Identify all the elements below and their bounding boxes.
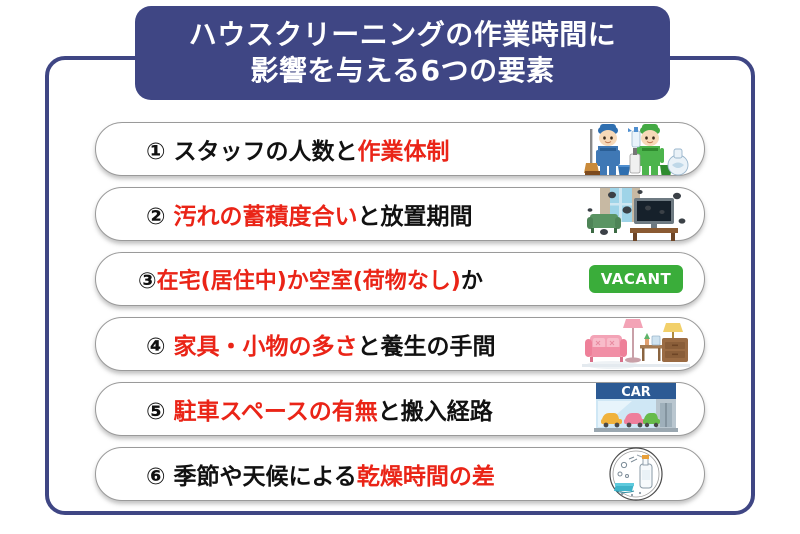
- spray-bottle-circle-icon: [580, 445, 692, 503]
- row-number: ①: [146, 139, 165, 165]
- cleaning-staff-icon: [580, 120, 692, 178]
- parking-garage-icon: CAR: [580, 380, 692, 438]
- row-text-segment: [165, 334, 173, 360]
- row-6-text: ⑥ 季節や天候による乾燥時間の差: [146, 457, 495, 491]
- row-number: ③: [138, 269, 157, 294]
- infographic-canvas: ハウスクリーニングの作業時間に 影響を与える6つの要素 ① スタッフの人数と作業…: [0, 0, 800, 534]
- svg-text:CAR: CAR: [621, 385, 651, 400]
- row-text-segment: 駐車スペースの有無: [174, 399, 378, 425]
- list-item[interactable]: ⑤ 駐車スペースの有無と搬入経路 CAR: [95, 382, 705, 436]
- row-text-segment: 家具・小物の多さ: [174, 334, 358, 360]
- vacant-badge-icon: VACANT: [580, 250, 692, 308]
- list-item[interactable]: ① スタッフの人数と作業体制: [95, 122, 705, 176]
- row-3-text: ③在宅(居住中)か空室(荷物なし)か: [138, 263, 483, 295]
- row-1-text: ① スタッフの人数と作業体制: [146, 132, 450, 166]
- row-text-segment: 乾燥時間の差: [357, 464, 495, 490]
- row-text-segment: 季節や天候による: [165, 464, 356, 490]
- row-text-segment: か: [461, 269, 483, 294]
- row-text-segment: [165, 399, 173, 425]
- row-number: ②: [146, 204, 165, 230]
- row-2-text: ② 汚れの蓄積度合いと放置期間: [146, 197, 473, 231]
- list-item[interactable]: ③在宅(居住中)か空室(荷物なし)か VACANT: [95, 252, 705, 306]
- list-item[interactable]: ② 汚れの蓄積度合いと放置期間: [95, 187, 705, 241]
- list-item[interactable]: ⑥ 季節や天候による乾燥時間の差: [95, 447, 705, 501]
- row-5-text: ⑤ 駐車スペースの有無と搬入経路: [146, 392, 493, 426]
- row-number: ④: [146, 334, 165, 360]
- furniture-sofa-icon: [580, 315, 692, 373]
- row-text-segment: と養生の手間: [358, 334, 496, 360]
- factor-list: ① スタッフの人数と作業体制: [95, 122, 705, 512]
- list-item[interactable]: ④ 家具・小物の多さと養生の手間: [95, 317, 705, 371]
- row-text-segment: と放置期間: [358, 204, 473, 230]
- page-title-line1: ハウスクリーニングの作業時間に: [189, 17, 617, 53]
- row-number: ⑤: [146, 399, 165, 425]
- row-text-segment: 汚れの蓄積度合い: [174, 204, 358, 230]
- row-4-text: ④ 家具・小物の多さと養生の手間: [146, 327, 496, 361]
- title-badge: ハウスクリーニングの作業時間に 影響を与える6つの要素: [135, 6, 670, 100]
- row-text-segment: 在宅(居住中)か空室(荷物なし): [157, 269, 461, 294]
- row-text-segment: [165, 204, 173, 230]
- page-title-line2: 影響を与える6つの要素: [250, 53, 554, 89]
- row-text-segment: スタッフの人数と: [165, 139, 357, 165]
- dirty-room-icon: [580, 185, 692, 243]
- vacant-label: VACANT: [589, 265, 684, 293]
- row-number: ⑥: [146, 464, 165, 490]
- row-text-segment: 作業体制: [358, 139, 450, 165]
- row-text-segment: と搬入経路: [378, 399, 493, 425]
